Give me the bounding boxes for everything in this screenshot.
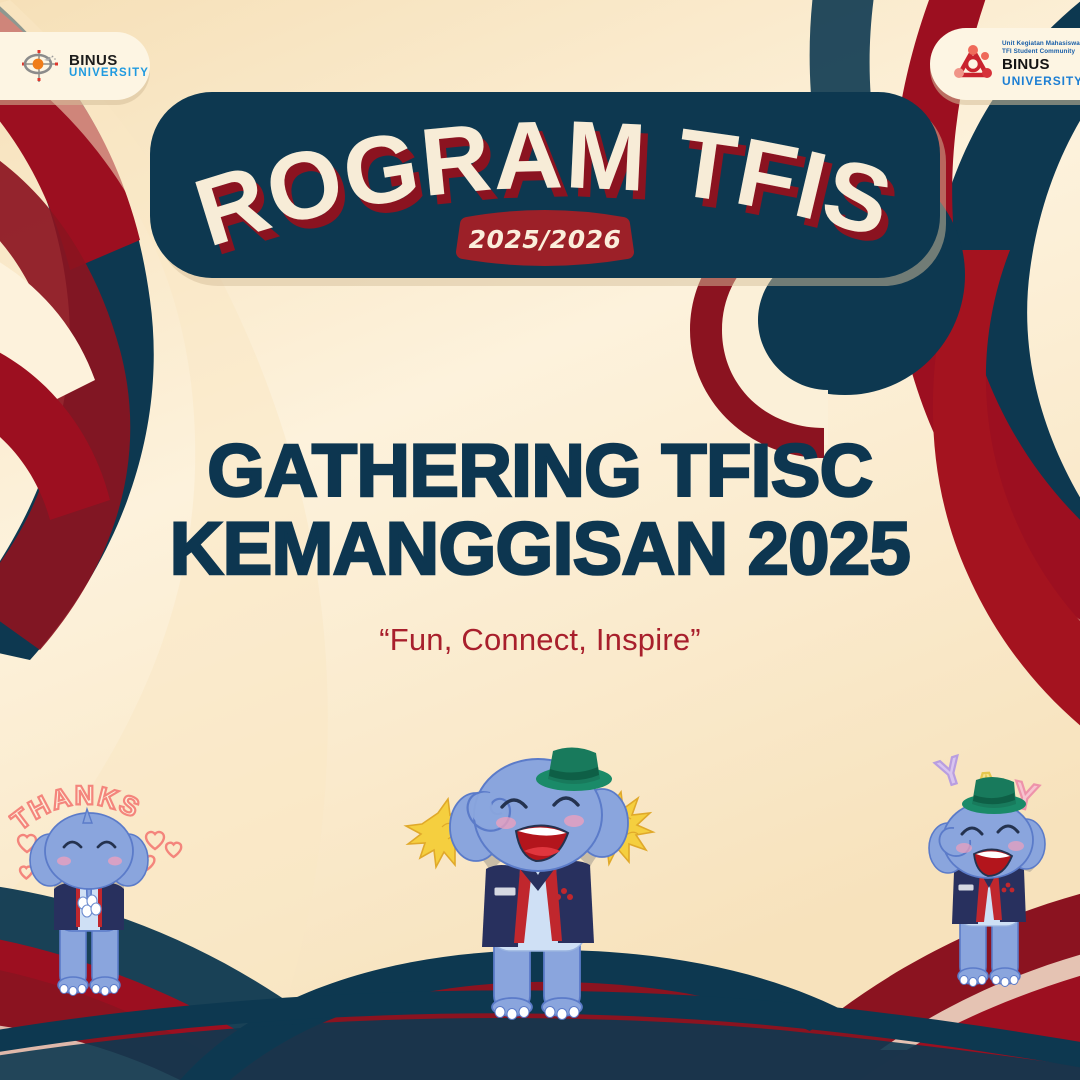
tagline: “Fun, Connect, Inspire” xyxy=(0,622,1080,658)
yay-letter-1: Y xyxy=(932,749,969,797)
mascot-elephant-cheerleader xyxy=(398,735,683,1020)
binus-logo-subtitle: UNIVERSITY xyxy=(69,68,149,80)
page-title: GATHERING TFISC KEMANGGISAN 2025 xyxy=(0,432,1080,589)
headline-line-2: KEMANGGISAN 2025 xyxy=(0,510,1080,588)
mascot-name-tag xyxy=(958,884,974,891)
mascot-jacket-left xyxy=(482,865,520,947)
mascot-elephant-thanks: THANKS! xyxy=(8,765,198,1005)
ukm-line-1: Unit Kegiatan Mahasiswa xyxy=(1002,40,1080,47)
headline-line-1: GATHERING TFISC xyxy=(0,432,1080,510)
mascot-body xyxy=(30,809,148,996)
year-badge-text: 2025/2026 xyxy=(469,225,622,254)
ukm-line-2: TFI Student Community xyxy=(1002,48,1080,55)
year-badge: 2025/2026 xyxy=(455,208,635,270)
binus-logo-name: BINUS xyxy=(69,53,149,68)
ukm-university-label: UNIVERSITY xyxy=(1002,74,1080,88)
mascot-name-tag xyxy=(494,887,516,896)
mascot-elephant-yay: Y A Y xyxy=(912,742,1080,997)
mascot-jacket-right xyxy=(556,861,594,943)
tfisc-triangle-icon xyxy=(952,43,994,85)
tfisc-logo-badge: Unit Kegiatan Mahasiswa TFI Student Comm… xyxy=(930,28,1080,100)
binus-logo-badge: BINUS UNIVERSITY xyxy=(0,32,150,100)
poster-canvas: BINUS UNIVERSITY Unit Kegiatan Mahasiswa… xyxy=(0,0,1080,1080)
title-banner: PROGRAM TFISC PROGRAM TFISC 2025/2026 xyxy=(150,92,940,278)
binus-comet-icon xyxy=(18,48,62,84)
ukm-binus-name: BINUS xyxy=(1002,56,1080,74)
